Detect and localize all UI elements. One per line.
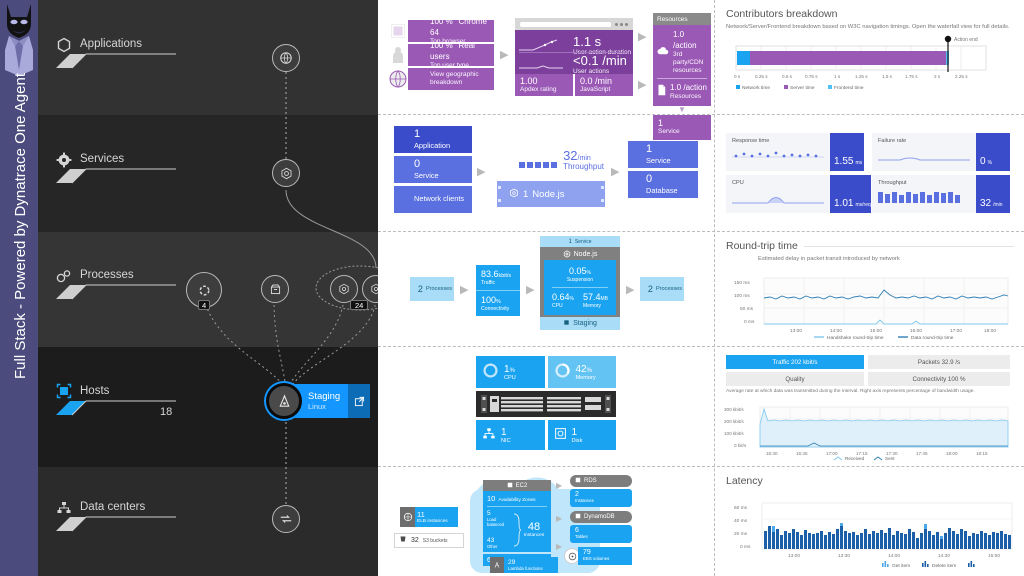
rum-resource-cdn-label: 3rd party/CDN resources <box>673 51 707 75</box>
proc-conn-unit: % <box>496 299 501 305</box>
band-count-hosts: 18 <box>160 406 172 418</box>
process-flow: 2 Processes ▶ 83.6kbit/s Traffic 100% Co… <box>378 232 714 346</box>
metric-title-cpu: CPU <box>732 180 824 186</box>
cloud-other-label: Other <box>487 544 513 549</box>
svc-app-value: 1 <box>414 129 472 141</box>
metric-card-throughput[interactable]: Throughput 32/min <box>872 175 1010 213</box>
row-datacenters: 11 ELB instances 32 S3 buckets EC2 <box>378 467 1024 576</box>
svg-text:50 ms: 50 ms <box>740 306 754 312</box>
brand-tagline: Full Stack - Powered by Dynatrace One Ag… <box>1 0 39 379</box>
cloud-arrow-2: ▶ <box>556 514 562 523</box>
proc-traffic-label: Traffic <box>481 280 515 286</box>
cloud-dynamo-tile[interactable]: 6 Tables <box>570 525 632 543</box>
proc-traffic-value: 83.6 <box>481 269 499 279</box>
svc-throughput-block: 32/min Throughput <box>498 149 604 171</box>
svg-text:0 ms: 0 ms <box>744 319 755 325</box>
svg-text:Get item: Get item <box>892 563 910 569</box>
cloud-arrow-1: ▶ <box>556 481 562 490</box>
network-traffic-chart: 300 kbit/s200 kbit/s100 kbit/s0 bit/s <box>722 399 1010 461</box>
rum-duration-value: 1.1 s <box>573 35 631 49</box>
cloud-az-row: 10 Availability Zones <box>487 494 547 503</box>
rum-apdex-label: Apdex rating <box>520 86 568 94</box>
rum-tile-browser[interactable]: 100 % Chrome 64 Top browser <box>408 20 494 42</box>
rtt-subtitle: Estimated delay in packet transit introd… <box>758 256 1014 262</box>
metric-value-response-time: 1.55ms <box>830 133 864 171</box>
contributors-breakdown-panel: Contributors breakdown Network/Server/Fr… <box>716 0 1024 114</box>
svg-text:1.25 s: 1.25 s <box>855 74 868 79</box>
metric-value-throughput: 32/min <box>976 175 1010 213</box>
donut-icon <box>554 362 571 382</box>
rum-errors-label: JavaScript errors <box>580 86 628 102</box>
cloud-rds-tile[interactable]: 2 Instances <box>570 489 632 507</box>
svg-text:1.75 s: 1.75 s <box>905 74 918 79</box>
svg-text:Handshake round-trip time: Handshake round-trip time <box>827 335 884 340</box>
svc-throughput-value: 32 <box>563 148 577 163</box>
proc-mem-label: Memory <box>583 303 608 309</box>
row-processes: 2 Processes ▶ 83.6kbit/s Traffic 100% Co… <box>378 232 1024 347</box>
proc-susp-label: Suspension <box>550 277 610 283</box>
round-trip-time-chart: 150 ms100 ms50 ms0 ms 13:0014:0015: <box>726 264 1014 340</box>
host-tile-memory[interactable]: 42% Memory <box>548 356 617 388</box>
proc-susp-unit: % <box>587 270 591 276</box>
rum-apdex-value: 1.00 <box>520 77 568 86</box>
cloud-rds-label: RDS <box>584 478 597 484</box>
cloud-ec2-group: EC2 10 Availability Zones 5 Load balance… <box>483 480 551 566</box>
proc-conn-value: 100 <box>481 295 496 305</box>
host-nic-value: 1 <box>501 427 507 438</box>
cloud-ebs-tile[interactable]: 79 EBS volumes <box>564 547 632 565</box>
svg-text:17:00: 17:00 <box>826 451 838 456</box>
row-applications: 100 % Chrome 64 Top browser 100 % Real u… <box>378 0 1024 115</box>
svc-tile-network-clients[interactable]: Network clients <box>394 186 472 213</box>
host-mem-value: 42 <box>576 364 587 375</box>
rum-browser-window: 1.1 s User action duration <0.1 /min Use… <box>515 18 633 96</box>
metric-title-failure-rate: Failure rate <box>878 138 970 144</box>
node-badge-process-monitor: 4 <box>198 300 210 310</box>
proc-group-card: 1Service Node.js 0.05% Suspension <box>540 236 620 330</box>
rum-window-chrome <box>515 18 633 30</box>
svc-arrow-2: ▶ <box>611 165 619 178</box>
svg-text:0 bit/s: 0 bit/s <box>734 443 747 448</box>
cloud-arrow-3: ▶ <box>556 542 562 551</box>
svg-text:0.25 s: 0.25 s <box>755 74 768 79</box>
proc-cpu-unit: % <box>570 296 574 302</box>
proc-mem-value: 57.4 <box>583 292 601 302</box>
svg-text:Frontend time: Frontend time <box>834 85 864 91</box>
rum-resource-row-cdn: 1.0 /action 3rd party/CDN resources <box>657 29 707 75</box>
rum-actions-label: User actions <box>573 68 627 76</box>
cloud-rds-header[interactable]: RDS <box>570 475 632 487</box>
metric-value-failure-rate: 0% <box>976 133 1010 171</box>
cloud-lambda-label: Lambda functions <box>508 566 554 571</box>
host-cpu-unit: % <box>510 368 515 374</box>
network-panel: Traffic 202 kbit/s Packets 32.9 /s Quali… <box>716 347 1024 466</box>
proc-cpu-value: 0.64 <box>552 292 570 302</box>
proc-in-label: Processes <box>426 286 452 292</box>
cloud-dynamo-header[interactable]: DynamoDB <box>570 511 632 523</box>
nodejs-icon <box>509 188 519 201</box>
ec2-icon <box>507 482 513 490</box>
person-icon <box>391 46 405 67</box>
svc-throughput-label: Throughput <box>563 162 604 171</box>
band-rule-hosts <box>56 397 176 415</box>
rum-window-footer: 1.00 Apdex rating 0.0 /min JavaScript er… <box>515 74 633 96</box>
svg-text:Sent: Sent <box>885 456 895 461</box>
proc-susp-value: 0.05 <box>569 266 587 276</box>
svg-text:17:45: 17:45 <box>916 451 928 456</box>
svc-arrow-1: ▶ <box>477 165 485 178</box>
host-node-core[interactable] <box>266 383 302 419</box>
proc-group-title-row: Node.js <box>544 249 616 260</box>
rum-flow: 100 % Chrome 64 Top browser 100 % Real u… <box>378 0 714 114</box>
svg-text:0 s: 0 s <box>734 74 741 79</box>
host-tile-cpu[interactable]: 1% CPU <box>476 356 545 388</box>
tab-packets[interactable]: Packets 32.9 /s <box>868 355 1010 369</box>
rum-resource-row-res: 1.0 /action Resources <box>657 82 707 101</box>
band-label-applications: Applications <box>80 38 142 50</box>
rum-browser-value: 100 % <box>430 17 453 26</box>
svg-text:Server time: Server time <box>790 85 815 91</box>
metric-value-cpu: 1.01ms/req <box>830 175 871 213</box>
brace-icon <box>513 513 521 547</box>
host-mem-label: Memory <box>576 375 596 381</box>
proc-metrics[interactable]: 0.05% Suspension 0.64% CPU 57.4MB <box>544 260 616 315</box>
services-flow: 1 Application 0 Service Network clients … <box>378 115 714 231</box>
brand-tagline-text: Full Stack - Powered by Dynatrace One Ag… <box>12 73 29 379</box>
svg-text:14:30: 14:30 <box>938 553 950 559</box>
metric-card-cpu[interactable]: CPU 1.01ms/req <box>726 175 864 213</box>
metric-title-response-time: Response time <box>732 138 824 144</box>
cloud-ec2-label: EC2 <box>516 483 528 489</box>
round-trip-time-panel: Round-trip time Estimated delay in packe… <box>716 232 1024 346</box>
rum-arrow-2: ▶ <box>638 30 646 43</box>
proc-group-count: 1 <box>568 239 571 245</box>
svg-text:13:00: 13:00 <box>788 553 800 559</box>
svg-text:0.5 s: 0.5 s <box>782 74 793 79</box>
rum-resources-header: Resources <box>653 13 711 25</box>
band-rule-services <box>56 165 176 183</box>
chevron-down-icon: ▼ <box>653 106 711 114</box>
cloud-s3-value: 32 <box>411 537 419 544</box>
rtt-title: Round-trip time <box>726 240 798 252</box>
svg-text:0 ms: 0 ms <box>740 544 751 550</box>
cloud-instances-value: 48 <box>521 521 547 533</box>
dashboard-screen: Full Stack - Powered by Dynatrace One Ag… <box>0 0 1024 576</box>
open-external-icon[interactable] <box>348 384 370 418</box>
latency-panel: Latency 60 ms40 ms20 ms0 ms <box>716 467 1024 576</box>
rack-server-icon <box>476 391 616 417</box>
band-rule-processes <box>56 281 176 299</box>
svg-text:1 s: 1 s <box>834 74 841 79</box>
svc-node-count: 1 <box>523 189 528 200</box>
proc-group-label: Service <box>575 239 592 245</box>
donut-icon <box>482 362 499 382</box>
rum-tile-usertype[interactable]: 100 % Real users Top user type <box>408 44 494 66</box>
node-service[interactable] <box>272 159 300 187</box>
browser-icon <box>390 23 406 42</box>
svg-text:18:00: 18:00 <box>946 451 958 456</box>
proc-arrow-3: ▶ <box>626 283 634 296</box>
svc-netclients-label: Network clients <box>414 195 472 204</box>
host-node-card[interactable]: Staging Linux <box>294 384 348 418</box>
svg-text:Action end: Action end <box>954 37 978 43</box>
svg-text:100 ms: 100 ms <box>734 293 750 299</box>
svg-text:300 kbit/s: 300 kbit/s <box>724 407 744 412</box>
cloud-lb-label: Load balanced <box>487 517 513 527</box>
svc-out-db-value: 0 <box>646 174 698 186</box>
cloud-topology-panel: 11 ELB instances 32 S3 buckets EC2 <box>378 467 714 576</box>
tab-quality[interactable]: Quality <box>726 372 864 386</box>
proc-group-footer[interactable]: Staging <box>540 317 620 330</box>
metric-card-failure-rate[interactable]: Failure rate 0% <box>872 133 1010 171</box>
svg-text:13:30: 13:30 <box>838 553 850 559</box>
cloud-ebs-value: 79 <box>583 549 627 556</box>
proc-title: Node.js <box>574 251 598 258</box>
cloud-dynamo-label: DynamoDB <box>584 514 615 520</box>
rum-resources-body[interactable]: 1.0 /action 3rd party/CDN resources 1.0 … <box>653 25 711 106</box>
band-label-processes: Processes <box>80 269 134 281</box>
proc-footer-label: Staging <box>573 320 597 327</box>
host-icon <box>563 319 570 328</box>
node-process-service-a[interactable] <box>330 275 358 303</box>
svg-text:200 kbit/s: 200 kbit/s <box>724 419 744 424</box>
cloud-other-value: 43 <box>487 537 513 544</box>
svg-text:Delete item: Delete item <box>932 563 956 569</box>
node-process-container[interactable] <box>261 275 289 303</box>
band-rule-datacenters <box>56 513 176 531</box>
svc-node-name: Node.js <box>532 189 564 200</box>
proc-connectivity: 100% Connectivity <box>476 291 520 316</box>
svg-text:Network time: Network time <box>742 85 770 91</box>
rum-actions-value: <0.1 /min <box>573 54 627 68</box>
svg-text:13:00: 13:00 <box>790 328 802 334</box>
host-node[interactable]: Staging Linux <box>266 383 370 419</box>
svg-text:15:00: 15:00 <box>870 328 882 334</box>
rum-resource-cdn-value: 1.0 /action <box>673 30 697 50</box>
file-icon <box>657 84 666 99</box>
svg-text:Received: Received <box>845 456 865 461</box>
proc-arrow-2: ▶ <box>526 283 534 296</box>
svg-text:20 ms: 20 ms <box>734 531 748 537</box>
band-label-datacenters: Data centers <box>80 501 145 513</box>
host-node-name: Staging <box>308 391 340 402</box>
lambda-icon <box>490 557 504 573</box>
svc-svc-value: 0 <box>414 159 472 171</box>
svg-text:1.5 s: 1.5 s <box>882 74 893 79</box>
proc-conn-label: Connectivity <box>481 306 515 312</box>
rum-errors-value: 0.0 /min <box>580 77 628 86</box>
svg-text:18:00: 18:00 <box>984 328 996 334</box>
metric-title-throughput: Throughput <box>878 180 970 186</box>
cloud-ec2-header[interactable]: EC2 <box>483 480 551 491</box>
row-services: 1 Application 0 Service Network clients … <box>378 115 1024 232</box>
svc-app-label: Application <box>414 141 472 150</box>
proc-group-header: 1Service <box>540 236 620 247</box>
dynamodb-icon <box>575 513 581 521</box>
nodejs-icon <box>563 250 571 260</box>
node-application[interactable] <box>272 44 300 72</box>
host-tile-disk[interactable]: 1 Disk <box>548 420 617 450</box>
svc-throughput-unit: /min <box>578 155 591 162</box>
svg-text:100 kbit/s: 100 kbit/s <box>724 431 744 436</box>
host-tile-grid: 1% CPU 42% Memory <box>476 356 616 450</box>
svg-text:0.75 s: 0.75 s <box>805 74 818 79</box>
svc-out-db-label: Database <box>646 186 698 195</box>
proc-group-body: Node.js 0.05% Suspension 0.64% CPU <box>540 247 620 317</box>
cloud-instances-label: Instances <box>521 533 547 538</box>
network-description: Average rate at which data was transmitt… <box>726 389 1006 394</box>
latency-chart: 60 ms40 ms20 ms0 ms <box>726 493 1016 571</box>
host-nic-label: NIC <box>501 438 511 444</box>
svc-tile-out-database[interactable]: 0 Database <box>628 171 698 198</box>
svc-tile-application[interactable]: 1 Application <box>394 126 472 153</box>
host-tiles-panel: 1% CPU 42% Memory <box>378 347 714 466</box>
cloud-ebs-label: EBS volumes <box>583 556 627 561</box>
svc-out-service-label: Service <box>646 156 698 165</box>
svg-text:16:45: 16:45 <box>796 451 808 456</box>
svg-text:2.25 s: 2.25 s <box>955 74 968 79</box>
svg-text:14:00: 14:00 <box>830 328 842 334</box>
proc-traffic-unit: kbit/s <box>499 273 512 279</box>
cloud-dynamo-tables-label: Tables <box>575 534 627 539</box>
svg-text:40 ms: 40 ms <box>734 518 748 524</box>
cloud-az-value: 10 <box>487 494 495 503</box>
node-badge-process-services: 24 <box>350 300 368 310</box>
svg-text:16:00: 16:00 <box>910 328 922 334</box>
cloud-tile-lambda[interactable]: 29 Lambda functions <box>490 557 558 573</box>
host-disk-value: 1 <box>572 427 578 438</box>
elb-icon <box>400 507 415 527</box>
host-cpu-label: CPU <box>504 375 516 381</box>
proc-mem-unit: MB <box>601 296 609 302</box>
latency-title: Latency <box>726 475 1014 487</box>
topology-column: Applications Services Processes 4 <box>38 0 378 576</box>
band-label-services: Services <box>80 153 124 165</box>
cloud-elb-value: 11 <box>417 510 458 519</box>
rum-errors-tile[interactable]: 0.0 /min JavaScript errors <box>575 74 633 96</box>
svc-out-service-value: 1 <box>646 144 698 156</box>
host-node-os: Linux <box>308 402 340 411</box>
cloud-az-label: Availability Zones <box>498 498 535 503</box>
cloud-elb-label: ELB instances <box>417 519 458 524</box>
panels-grid: 100 % Chrome 64 Top browser 100 % Real u… <box>378 0 1024 576</box>
bucket-icon <box>399 535 407 546</box>
svg-text:15:00: 15:00 <box>988 553 1000 559</box>
contributors-title: Contributors breakdown <box>726 8 1014 20</box>
contributors-chart: Action end 0 s0.25 s0.5 s 0.75 s1 s1.25 … <box>726 32 1014 94</box>
proc-in-value: 2 <box>418 284 423 294</box>
rum-usertype-value: 100 % <box>430 41 453 50</box>
svg-text:2 s: 2 s <box>934 74 941 79</box>
rum-tile-geo[interactable]: View geographic breakdown <box>408 68 494 90</box>
row-hosts: 1% CPU 42% Memory <box>378 347 1024 467</box>
rum-arrow-1: ▶ <box>500 48 508 61</box>
tab-connectivity[interactable]: Connectivity 100 % <box>868 372 1010 386</box>
metric-card-response-time[interactable]: Response time 1.55ms <box>726 133 864 171</box>
svc-svc-label: Service <box>414 171 472 180</box>
brand-rail: Full Stack - Powered by Dynatrace One Ag… <box>0 0 38 576</box>
cloud-icon <box>657 46 669 58</box>
proc-out-value: 2 <box>648 284 653 294</box>
svg-text:14:00: 14:00 <box>888 553 900 559</box>
rum-window-body: 1.1 s User action duration <0.1 /min Use… <box>515 30 633 74</box>
band-rule-applications <box>56 50 176 68</box>
svg-text:60 ms: 60 ms <box>734 505 748 511</box>
proc-in-tile[interactable]: 2 Processes <box>410 277 454 301</box>
cloud-lambda-value: 29 <box>508 559 554 566</box>
svg-text:150 ms: 150 ms <box>734 280 750 286</box>
proc-arrow-1: ▶ <box>460 283 468 296</box>
rum-arrow-3: ▶ <box>638 78 646 91</box>
cloud-s3-label: S3 buckets <box>423 538 448 544</box>
rum-apdex-tile[interactable]: 1.00 Apdex rating <box>515 74 573 96</box>
svg-text:18:15: 18:15 <box>976 451 988 456</box>
cloud-lb-value: 5 <box>487 510 513 517</box>
rds-icon <box>575 477 581 485</box>
nic-icon <box>482 427 496 444</box>
svc-node-card[interactable]: 1 Node.js <box>497 181 605 207</box>
svg-text:17:00: 17:00 <box>950 328 962 334</box>
globe-icon <box>389 70 407 91</box>
svc-tile-service[interactable]: 0 Service <box>394 156 472 183</box>
cloud-rds-value: 2 <box>575 491 627 498</box>
cloud-tile-s3[interactable]: 32 S3 buckets <box>394 533 464 548</box>
node-datacenter[interactable] <box>272 505 300 533</box>
proc-out-tile[interactable]: 2 Processes <box>640 277 684 301</box>
host-tile-nic[interactable]: 1 NIC <box>476 420 545 450</box>
svg-text:16:30: 16:30 <box>766 451 778 456</box>
cloud-rds-instances-label: Instances <box>575 498 627 503</box>
service-metrics-panel: Response time 1.55ms Failure rate <box>716 115 1024 231</box>
cloud-ec2-body[interactable]: 10 Availability Zones 5 Load balanced 43… <box>483 491 551 552</box>
proc-cpu-label: CPU <box>552 303 574 309</box>
band-label-hosts: Hosts <box>80 385 109 397</box>
proc-traffic: 83.6kbit/s Traffic <box>476 265 520 290</box>
tab-traffic[interactable]: Traffic 202 kbit/s <box>726 355 864 369</box>
cloud-dynamo-value: 6 <box>575 527 627 534</box>
rum-resource-res-value: 1.0 /action <box>670 83 707 92</box>
proc-out-label: Processes <box>656 286 682 292</box>
disk-icon <box>554 427 567 443</box>
contributors-subtitle: Network/Server/Frontend breakdown based … <box>726 24 1014 30</box>
proc-network-tile[interactable]: 83.6kbit/s Traffic 100% Connectivity <box>476 265 520 316</box>
rum-geo-name: View geographic breakdown <box>430 71 494 87</box>
host-disk-label: Disk <box>572 438 583 444</box>
host-mem-unit: % <box>587 368 592 374</box>
svg-text:Data round-trip time: Data round-trip time <box>911 335 954 340</box>
rum-resource-res-label: Resources <box>670 93 707 101</box>
svc-tile-out-service[interactable]: 1 Service <box>628 141 698 168</box>
